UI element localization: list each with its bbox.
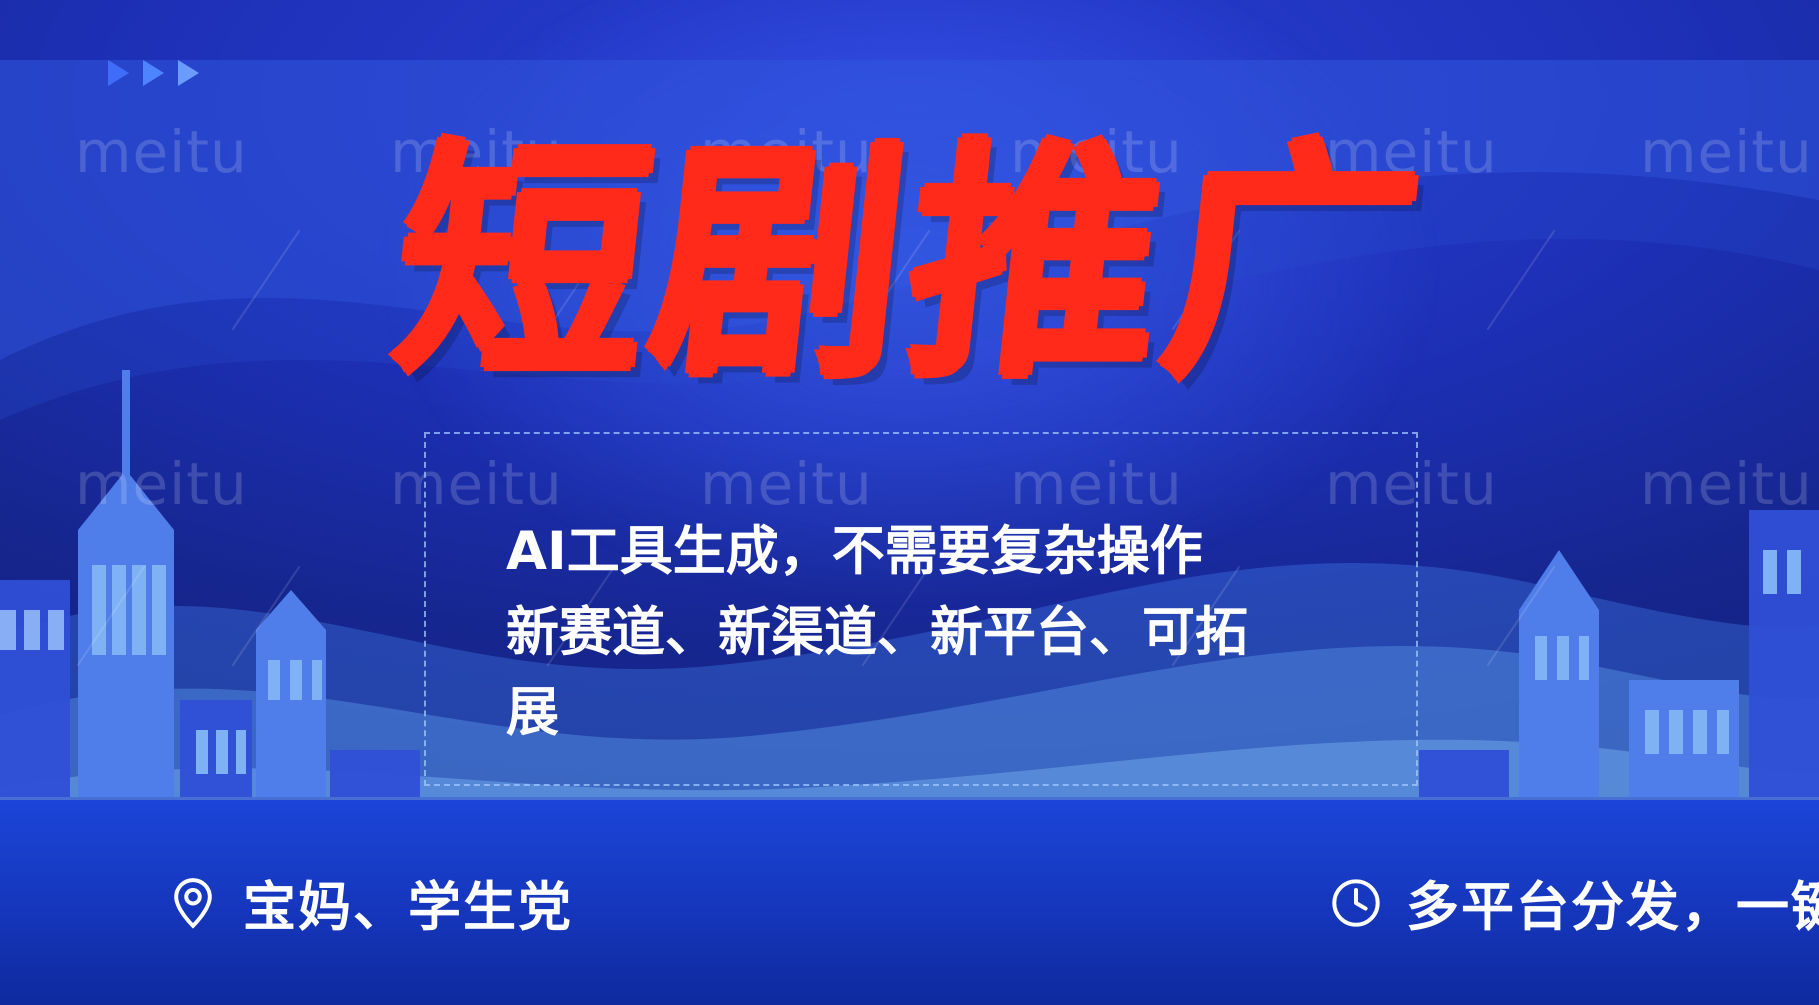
subtitle-text: AI工具生成，不需要复杂操作 新赛道、新渠道、新平台、可拓 展 [506,512,1386,754]
poster-canvas: meitu meitu meitu meitu meitu meitu meit… [0,0,1819,1005]
play-arrow-icon [108,60,129,86]
feature-label-distribution: 多平台分发，一键生成 [1406,865,1819,941]
feature-label-audience: 宝妈、学生党 [243,865,573,941]
poster-title: 短剧推广 [384,140,1434,390]
top-left-arrows-decoration [108,60,199,86]
subtitle-line-1: AI工具生成，不需要复杂操作 [506,512,1386,593]
play-arrow-icon [143,60,164,86]
subtitle-line-2: 新赛道、新渠道、新平台、可拓 [506,593,1386,674]
subtitle-line-3: 展 [506,673,1386,754]
feature-item-audience: 宝妈、学生党 [165,865,573,941]
bottom-feature-list: 宝妈、学生党 多平台分发，一键生成 [0,800,1819,1005]
clock-icon [1328,875,1384,931]
play-arrow-icon [178,60,199,86]
location-pin-icon [165,875,221,931]
feature-item-distribution: 多平台分发，一键生成 [1328,865,1819,941]
